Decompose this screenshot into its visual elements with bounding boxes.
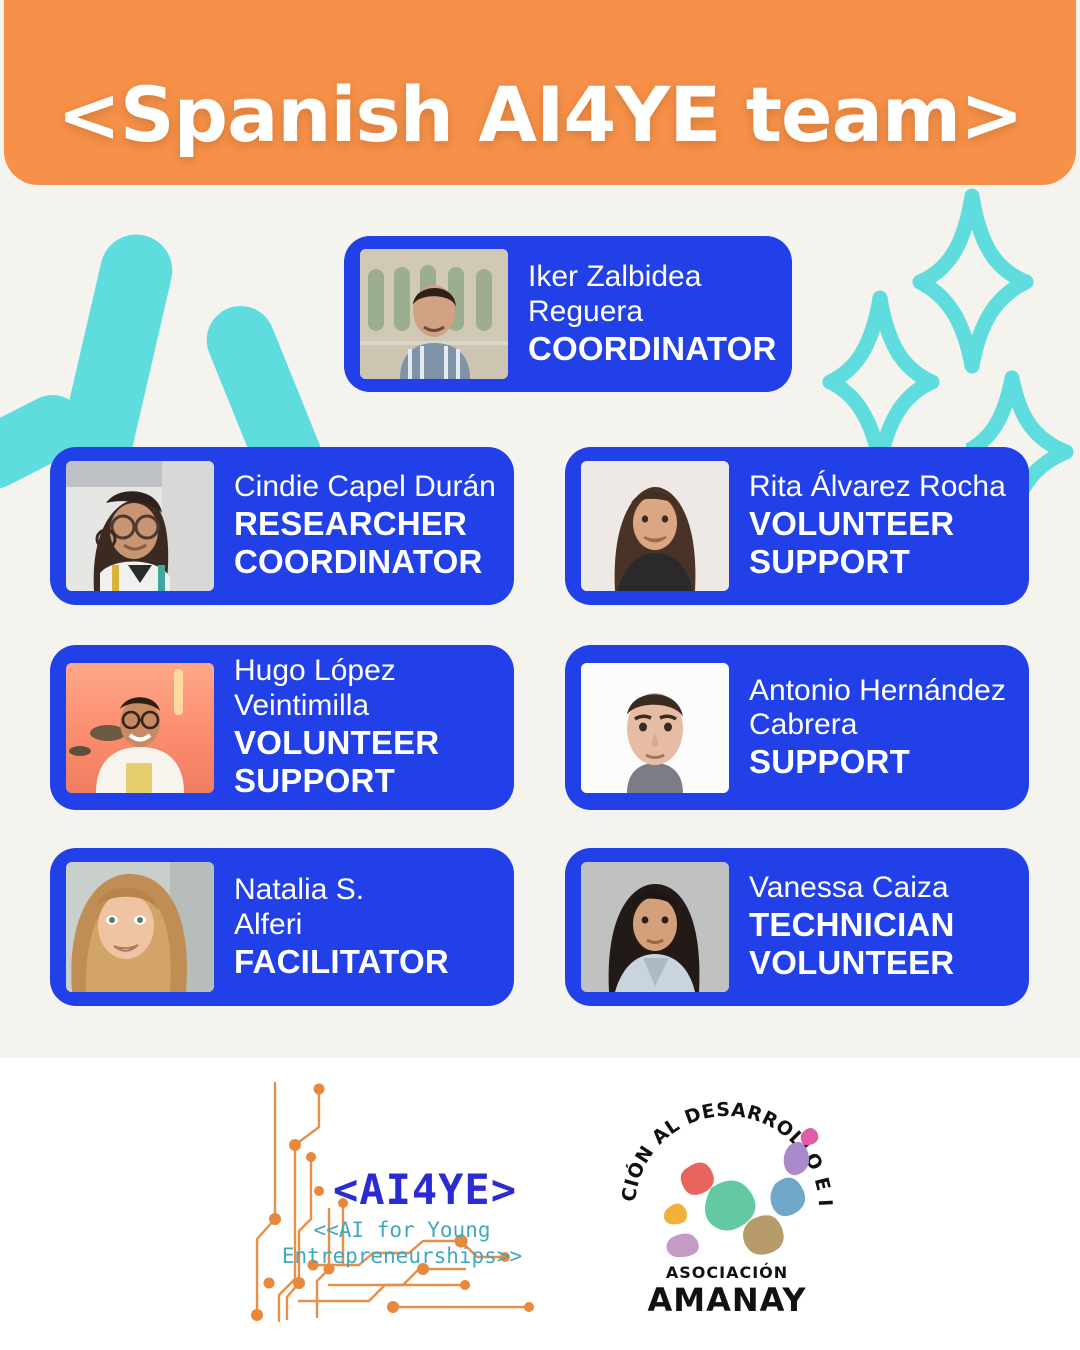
team-card[interactable]: Iker Zalbidea Reguera COORDINATOR	[344, 236, 792, 392]
poster-canvas: <Spanish AI4YE team>	[0, 0, 1080, 1350]
team-card[interactable]: Hugo López Veintimilla VOLUNTEER SUPPORT	[50, 645, 514, 810]
team-card[interactable]: Antonio Hernández Cabrera SUPPORT	[565, 645, 1029, 810]
team-card[interactable]: Natalia S. Alferi FACILITATOR	[50, 848, 514, 1006]
footer-logos: <AI4YE> <<AI for Young Entrepreneurships…	[0, 1058, 1080, 1350]
team-card[interactable]: Vanessa Caiza TECHNICIAN VOLUNTEER	[565, 848, 1029, 1006]
amanay-logo: PARA LA COOPERACIÓN AL DESARROLLO E INCL…	[607, 1080, 847, 1328]
member-info: Cindie Capel Durán RESEARCHER COORDINATO…	[234, 470, 496, 581]
member-role: VOLUNTEER SUPPORT	[234, 724, 439, 801]
page-title: <Spanish AI4YE team>	[57, 70, 1022, 159]
ai4ye-logo: <AI4YE> <<AI for Young Entrepreneurships…	[233, 1069, 563, 1339]
member-name: Cindie Capel Durán	[234, 470, 496, 505]
member-name: Rita Álvarez Rocha	[749, 470, 1006, 505]
amanay-subtitle: ASOCIACIÓN	[607, 1263, 847, 1282]
team-card[interactable]: Cindie Capel Durán RESEARCHER COORDINATO…	[50, 447, 514, 605]
member-name: Antonio Hernández Cabrera	[749, 674, 1006, 744]
member-photo	[66, 862, 214, 992]
member-name: Iker Zalbidea Reguera	[528, 260, 776, 330]
team-card[interactable]: Rita Álvarez Rocha VOLUNTEER SUPPORT	[565, 447, 1029, 605]
member-photo	[581, 663, 729, 793]
member-role: SUPPORT	[749, 743, 1006, 781]
member-photo	[581, 862, 729, 992]
member-photo	[66, 461, 214, 591]
member-info: Natalia S. Alferi FACILITATOR	[234, 873, 449, 981]
member-name: Vanessa Caiza	[749, 871, 955, 906]
member-role: FACILITATOR	[234, 943, 449, 981]
member-name: Hugo López Veintimilla	[234, 654, 439, 724]
member-info: Rita Álvarez Rocha VOLUNTEER SUPPORT	[749, 470, 1006, 581]
member-info: Vanessa Caiza TECHNICIAN VOLUNTEER	[749, 871, 955, 982]
member-role: TECHNICIAN VOLUNTEER	[749, 906, 955, 983]
member-photo	[66, 663, 214, 793]
member-role: COORDINATOR	[528, 330, 776, 368]
member-photo	[360, 249, 508, 379]
ai4ye-tagline: <<AI for Young Entrepreneurships>>	[247, 1217, 557, 1270]
member-photo	[581, 461, 729, 591]
member-role: RESEARCHER COORDINATOR	[234, 505, 496, 582]
member-info: Antonio Hernández Cabrera SUPPORT	[749, 674, 1006, 782]
amanay-name: AMANAY	[607, 1281, 847, 1319]
member-name: Natalia S. Alferi	[234, 873, 449, 943]
member-role: VOLUNTEER SUPPORT	[749, 505, 1006, 582]
header-banner: <Spanish AI4YE team>	[4, 0, 1076, 185]
member-info: Hugo López Veintimilla VOLUNTEER SUPPORT	[234, 654, 439, 800]
member-info: Iker Zalbidea Reguera COORDINATOR	[528, 260, 776, 368]
ai4ye-wordmark: <AI4YE>	[333, 1165, 517, 1214]
